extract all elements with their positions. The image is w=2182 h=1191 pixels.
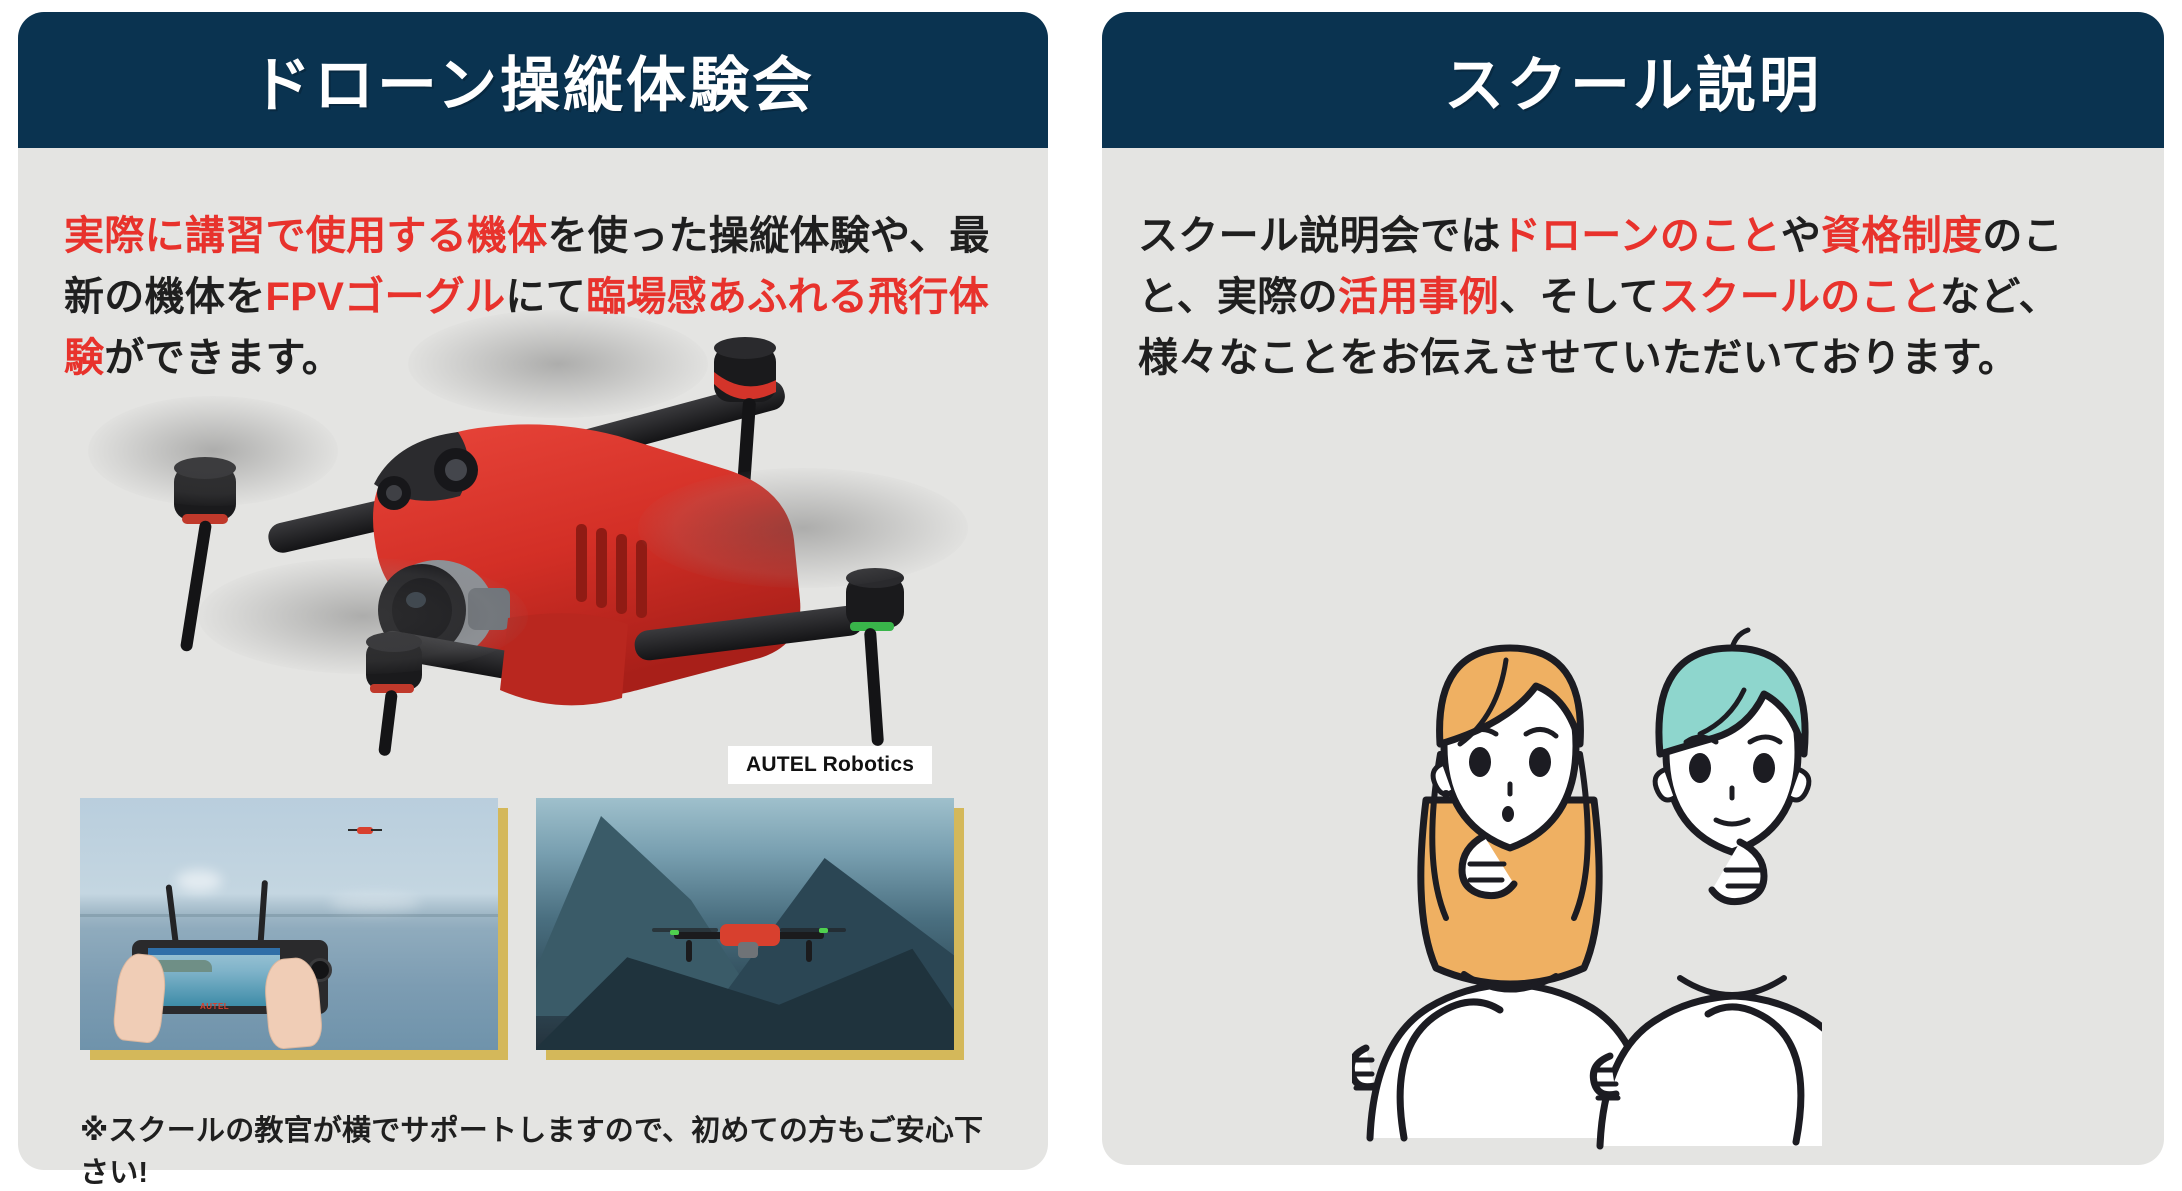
panel-drone-experience: ドローン操縦体験会 実際に講習で使用する機体を使った操縦体験や、最新の機体をFP… bbox=[18, 12, 1048, 1170]
lead-highlight-segment: スクールのこと bbox=[1659, 275, 1940, 319]
hero-drone-image bbox=[78, 288, 978, 758]
lead-text-segment: スクール説明会では bbox=[1138, 214, 1501, 258]
right-lead-paragraph: スクール説明会ではドローンのことや資格制度のこと、実際の活用事例、そしてスクール… bbox=[1138, 206, 2138, 388]
support-caption: ※スクールの教官が横でサポートしますので、初めての方もご安心下さい! bbox=[80, 1107, 1000, 1191]
photo-controller-seaside: AUTEL bbox=[80, 798, 498, 1050]
left-panel-body: 実際に講習で使用する機体を使った操縦体験や、最新の機体をFPVゴーグルにて臨場感… bbox=[18, 148, 1048, 1170]
thinking-people-illustration bbox=[1352, 578, 1822, 1168]
photo-controller-seaside-image: AUTEL bbox=[80, 798, 498, 1050]
right-panel-title: スクール説明 bbox=[1444, 37, 1822, 124]
left-panel-header: ドローン操縦体験会 bbox=[18, 12, 1048, 148]
lead-highlight-segment: ドローンのこと bbox=[1501, 214, 1781, 258]
lead-highlight-segment: 活用事例 bbox=[1338, 275, 1499, 319]
autel-watermark: AUTEL Robotics bbox=[728, 746, 932, 784]
right-panel-body: スクール説明会ではドローンのことや資格制度のこと、実際の活用事例、そしてスクール… bbox=[1102, 148, 2164, 1165]
lead-text-segment: や bbox=[1781, 214, 1821, 258]
left-panel-title: ドローン操縦体験会 bbox=[251, 37, 815, 124]
poster-stage: ドローン操縦体験会 実際に講習で使用する機体を使った操縦体験や、最新の機体をFP… bbox=[0, 0, 2182, 1184]
lead-text-segment: 、そして bbox=[1499, 275, 1659, 319]
lead-highlight-segment: 資格制度 bbox=[1821, 214, 1982, 258]
photo-drone-mountains bbox=[536, 798, 954, 1050]
right-panel-header: スクール説明 bbox=[1102, 12, 2164, 148]
photo-drone-mountains-image bbox=[536, 798, 954, 1050]
panel-school-info: スクール説明 スクール説明会ではドローンのことや資格制度のこと、実際の活用事例、… bbox=[1102, 12, 2164, 1165]
lead-highlight-segment: 実際に講習で使用する機体 bbox=[64, 214, 548, 258]
